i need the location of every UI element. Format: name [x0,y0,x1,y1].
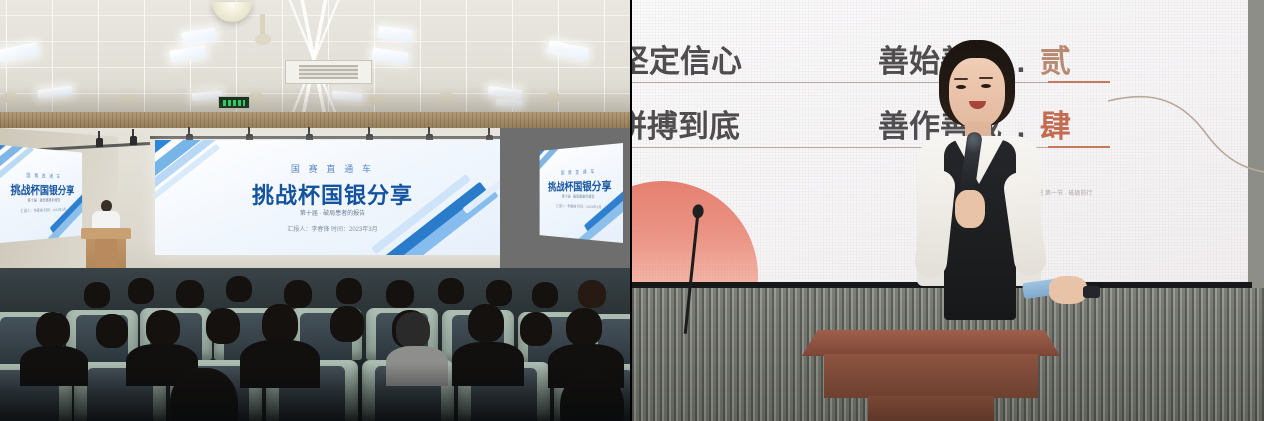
presenter-eyebrow [954,78,968,80]
podium [802,330,1060,421]
audience-head [396,312,430,348]
audience-head [520,312,552,346]
main-slide-subtitle: 第十届 · 破局患者的报告 [155,208,510,217]
presenter-hand-clicker [1049,276,1087,304]
audience-head [146,310,180,346]
lighting-track-rail [150,136,515,139]
track-spotlight [96,138,103,147]
audience-head [84,282,110,308]
audience-head [176,280,204,308]
audience-head [532,282,558,308]
audience-head [336,278,362,304]
audience-foreground-shadow [0,363,630,421]
main-slide-kicker: 国 赛 直 通 车 [155,162,510,175]
presenter-eye [956,85,966,89]
presenter-hand-mic [955,190,985,228]
presenter-eyebrow [979,77,993,79]
audience-head [262,304,298,344]
podium-body [824,354,1038,398]
ac-vent [285,60,372,84]
audience-head [226,276,252,302]
audience-head [284,280,312,308]
audience-head [330,306,364,342]
dome-light-pod [255,34,271,45]
ceiling [0,0,630,120]
screenshot-root: 国 赛 直 通 车 挑战杯国银分享 第十届 · 破局患者的报告 汇报人：李春锋 … [0,0,1264,421]
presenter-face [949,58,1005,128]
audience-head [96,314,128,348]
audience-head [206,308,240,344]
dome-light-stem [260,14,265,36]
podium-top [802,330,1060,356]
audience-head [386,280,414,308]
side-slide-title: 挑战杯国银分享 [0,181,82,198]
audience-head [468,304,504,342]
audience-head [486,280,512,306]
audience-head [578,280,606,308]
main-slide-title: 挑战杯国银分享 [155,178,510,210]
right-photo-presenter: 坚定信心 拼搏到底 善始善终 . 贰 善作善成 . 肆 第二章 · 持续奋进 [632,0,1264,421]
side-slide-subtitle: 第十届 · 破局患者的报告 [540,194,623,200]
audience-head [128,278,154,304]
side-screen-right: 国 赛 直 通 车 挑战杯国银分享 第十届 · 破局患者的报告 汇报人：李春锋 … [540,143,623,243]
audience-area [0,268,630,421]
audience-head [36,312,70,348]
presenter-eye [981,84,991,88]
main-projection-screen: 国 赛 直 通 车 挑战杯国银分享 第十届 · 破局患者的报告 汇报人：李春锋 … [155,140,510,255]
presentation-clicker[interactable] [1083,286,1100,298]
track-spotlight [130,136,137,145]
side-screen-left: 国 赛 直 通 车 挑战杯国银分享 第十届 · 破局患者的报告 汇报人：李春锋 … [0,145,82,243]
podium-column [868,396,994,421]
audience-head [566,308,602,346]
side-slide-title: 挑战杯国银分享 [540,177,623,194]
main-slide-byline: 汇报人：李春锋 时间：2023年3月 [155,224,510,233]
left-photo-auditorium: 国 赛 直 通 车 挑战杯国银分享 第十届 · 破局患者的报告 汇报人：李春锋 … [0,0,630,421]
audience-head [438,278,464,304]
